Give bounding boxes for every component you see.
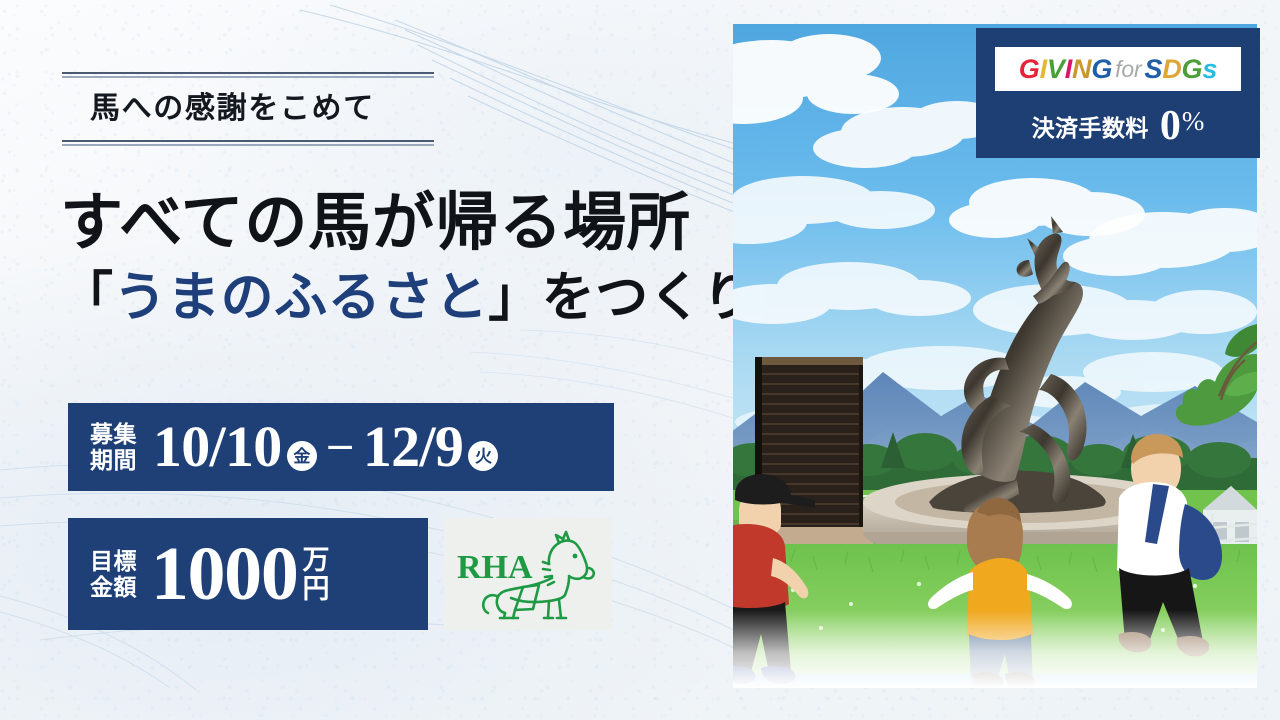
headline-accent-text: うまのふるさと xyxy=(114,269,489,327)
goal-unit-yen: 円 xyxy=(302,575,329,604)
left-content-column: 馬への感謝をこめて すべての馬が帰る場所 「うまのふるさと」をつくりたい 募集 … xyxy=(0,0,733,720)
period-start-day-marker: 金 xyxy=(287,441,317,471)
goal-amount-number: 1000 xyxy=(151,536,298,612)
logo-letter-s: s xyxy=(1202,56,1217,83)
goal-label-line-1: 目標 xyxy=(90,548,137,574)
goal-label-line-2: 金額 xyxy=(90,574,137,600)
poster-canvas: 馬への感謝をこめて すべての馬が帰る場所 「うまのふるさと」をつくりたい 募集 … xyxy=(0,0,1280,720)
logo-letter-G1: G xyxy=(1019,56,1040,83)
logo-letter-G3: G xyxy=(1182,56,1203,83)
goal-amount-badge: 目標 金額 1000 万 円 xyxy=(68,518,428,630)
payment-fee-percent: % xyxy=(1182,108,1205,135)
logo-letter-I2: I xyxy=(1065,56,1072,83)
goal-unit-man: 万 xyxy=(302,546,329,575)
goal-value: 1000 万 円 xyxy=(137,536,330,612)
headline-block: すべての馬が帰る場所 「うまのふるさと」をつくりたい xyxy=(60,190,730,327)
rule-thick-line xyxy=(62,72,434,74)
headline-line-2: 「うまのふるさと」をつくりたい xyxy=(60,269,730,327)
rha-logo: RHA xyxy=(453,526,603,622)
headline-line-1: すべての馬が帰る場所 xyxy=(60,190,730,257)
eyebrow-rule-bottom xyxy=(62,140,434,146)
goal-amount-unit: 万 円 xyxy=(302,546,329,603)
rha-logo-text: RHA xyxy=(457,549,533,586)
rule-thick-line xyxy=(62,140,434,142)
period-label-line-1: 募集 xyxy=(90,421,137,447)
payment-fee-label: 決済手数料 xyxy=(1032,109,1149,143)
eyebrow-block: 馬への感謝をこめて xyxy=(62,72,434,146)
logo-letter-I1: I xyxy=(1040,56,1047,83)
photo-bottom-fade xyxy=(733,610,1257,688)
period-label: 募集 期間 xyxy=(90,421,137,473)
giving-for-sdgs-logo: G I V I N G for S D G s xyxy=(995,47,1241,91)
logo-letter-V: V xyxy=(1047,56,1065,83)
rha-logo-box: RHA xyxy=(444,518,612,630)
goal-label: 目標 金額 xyxy=(90,548,137,600)
headline-quote-open: 「 xyxy=(60,269,114,327)
logo-letter-N: N xyxy=(1072,56,1091,83)
period-start-date: 10/10 xyxy=(153,418,282,476)
period-value: 10/10 金 – 12/9 火 xyxy=(153,418,498,476)
sdgs-badge-panel: G I V I N G for S D G s 決済手数料 0 % xyxy=(976,28,1260,158)
logo-letter-D: D xyxy=(1162,56,1181,83)
campaign-period-badge: 募集 期間 10/10 金 – 12/9 火 xyxy=(68,403,614,491)
period-separator: – xyxy=(317,420,363,466)
logo-letter-S: S xyxy=(1144,56,1162,83)
logo-letter-G2: G xyxy=(1091,56,1112,83)
period-end-day-marker: 火 xyxy=(468,441,498,471)
period-label-line-2: 期間 xyxy=(90,447,137,473)
rule-thin-line xyxy=(62,144,434,146)
payment-fee-row: 決済手数料 0 % xyxy=(1032,105,1205,147)
period-end-date: 12/9 xyxy=(363,418,463,476)
eyebrow-text: 馬への感謝をこめて xyxy=(62,78,434,140)
payment-fee-value: 0 xyxy=(1160,105,1181,147)
logo-word-for: for xyxy=(1115,58,1141,81)
